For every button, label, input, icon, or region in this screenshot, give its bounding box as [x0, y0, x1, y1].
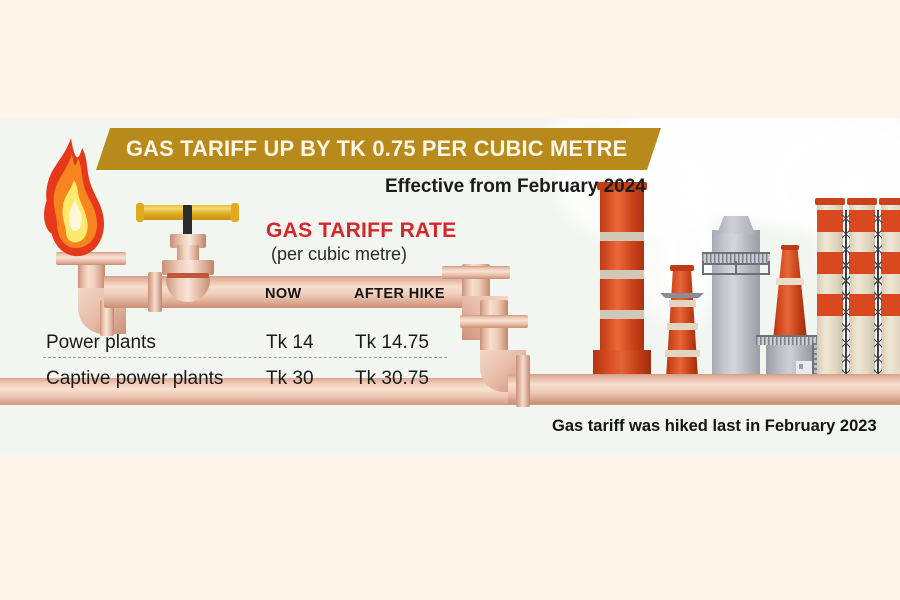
- chimney-band: [669, 300, 696, 307]
- infographic-root: GAS TARIFF UP BY TK 0.75 PER CUBIC METRE…: [0, 0, 900, 600]
- pipe-flange: [516, 355, 530, 407]
- chimney-band: [881, 294, 900, 316]
- chimney-cap: [847, 198, 877, 205]
- table-cell-after-hike: Tk 30.75: [355, 368, 429, 390]
- valve-handle-cap: [136, 203, 144, 222]
- table-row: Power plants: [46, 332, 156, 354]
- pipe-flange: [148, 272, 162, 312]
- chimney-band: [817, 210, 843, 232]
- pipe-flange: [460, 315, 528, 328]
- column-header-after-hike: AFTER HIKE: [354, 286, 445, 302]
- chimney-band: [817, 252, 843, 274]
- chimney-cap: [815, 198, 845, 205]
- rate-subtitle: (per cubic metre): [271, 244, 407, 265]
- chimney-cap: [879, 198, 900, 205]
- chimney-band: [600, 232, 644, 241]
- chimney-band: [849, 294, 875, 316]
- rate-title: GAS TARIFF RATE: [266, 219, 456, 243]
- valve-stem: [183, 205, 192, 237]
- table-cell-after-hike: Tk 14.75: [355, 332, 429, 354]
- pipe-flange: [442, 266, 510, 279]
- chimney-cap: [781, 245, 799, 250]
- chimney-mast: [877, 210, 879, 378]
- table-cell-now: Tk 30: [266, 368, 314, 390]
- table-cell-now: Tk 14: [266, 332, 314, 354]
- chimney-band: [665, 350, 700, 357]
- chimney-band: [667, 323, 698, 330]
- chimney-band: [881, 252, 900, 274]
- column-header-now: NOW: [265, 286, 302, 302]
- chimney-platform: [660, 293, 704, 298]
- pipe-icon: [508, 374, 900, 404]
- chimney-mast: [845, 210, 847, 378]
- headline-text: GAS TARIFF UP BY TK 0.75 PER CUBIC METRE: [126, 136, 627, 162]
- small-building-icon: [799, 364, 803, 369]
- chimney-band: [776, 278, 804, 285]
- factory-chimney-icon: [773, 248, 807, 340]
- chimney-cap: [670, 265, 694, 271]
- effective-date: Effective from February 2024: [385, 176, 646, 198]
- row-divider: [43, 357, 447, 358]
- chimney-band: [600, 270, 644, 279]
- valve-handle-cap: [231, 203, 239, 222]
- chimney-band: [849, 210, 875, 232]
- footnote: Gas tariff was hiked last in February 20…: [552, 417, 877, 436]
- chimney-band: [849, 252, 875, 274]
- table-row: Captive power plants: [46, 368, 223, 390]
- chimney-support: [735, 261, 737, 275]
- chimney-band: [881, 210, 900, 232]
- chimney-band: [600, 310, 644, 319]
- headline-banner: GAS TARIFF UP BY TK 0.75 PER CUBIC METRE: [96, 128, 661, 170]
- chimney-band: [817, 294, 843, 316]
- flame-icon: [24, 136, 116, 262]
